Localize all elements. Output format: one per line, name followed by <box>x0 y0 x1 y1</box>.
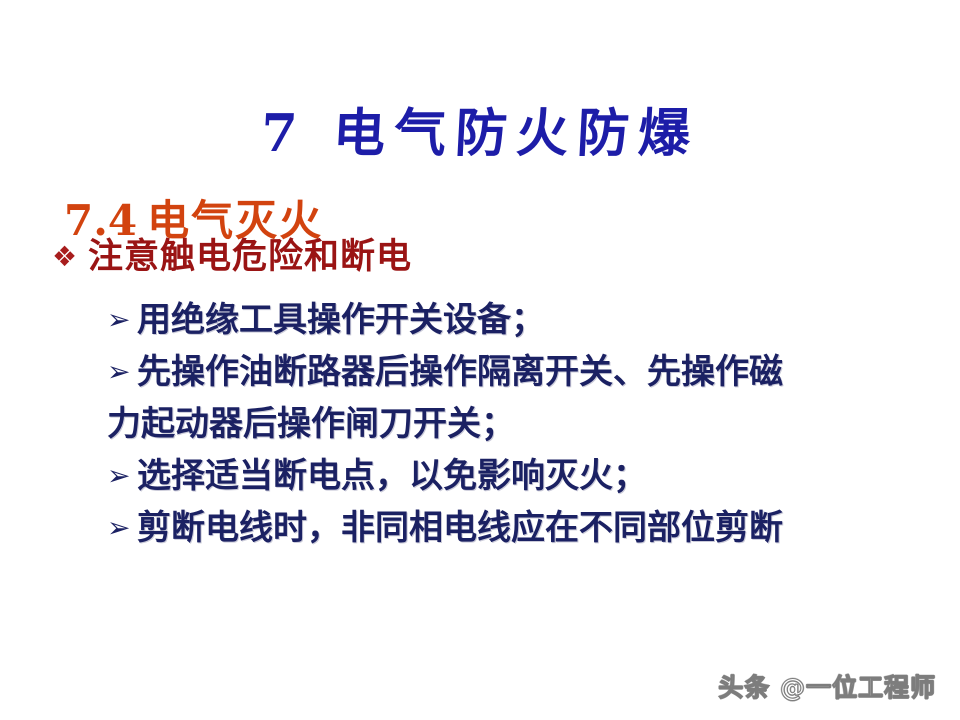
bullet-level1-heading: ❖ 注意触电危险和断电 <box>0 234 960 280</box>
list-item-line: 用绝缘工具操作开关设备； <box>137 294 946 346</box>
list-item-text: 用绝缘工具操作开关设备； <box>137 294 946 346</box>
arrow-bullet-icon: ➢ <box>107 502 137 554</box>
list-item-line: 先操作油断路器后操作隔离开关、先操作磁 <box>137 346 946 398</box>
list-item-text: 选择适当断电点，以免影响灭火； <box>137 450 946 502</box>
list-item-line: 剪断电线时，非同相电线应在不同部位剪断 <box>137 502 946 554</box>
list-item-text: 剪断电线时，非同相电线应在不同部位剪断 <box>137 502 946 554</box>
slide-content: ❖ 注意触电危险和断电 ➢ 用绝缘工具操作开关设备； ➢ 先操作油断路器后操作隔… <box>0 234 960 554</box>
slide-canvas: 7 电气防火防爆 7.4电气灭火 ❖ 注意触电危险和断电 ➢ 用绝缘工具操作开关… <box>0 0 960 720</box>
watermark: 头条 @一位工程师 <box>718 668 936 704</box>
list-item: ➢ 先操作油断路器后操作隔离开关、先操作磁 力起动器后操作闸刀开关； <box>0 346 960 450</box>
list-item: ➢ 用绝缘工具操作开关设备； <box>0 294 960 346</box>
list-item: ➢ 选择适当断电点，以免影响灭火； <box>0 450 960 502</box>
list-item-line-continuation: 力起动器后操作闸刀开关； <box>107 398 946 450</box>
diamond-bullet-icon: ❖ <box>52 234 88 280</box>
list-item-text: 先操作油断路器后操作隔离开关、先操作磁 力起动器后操作闸刀开关； <box>137 346 946 450</box>
list-item: ➢ 剪断电线时，非同相电线应在不同部位剪断 <box>0 502 960 554</box>
arrow-bullet-icon: ➢ <box>107 346 137 398</box>
page-title: 7 电气防火防爆 <box>0 107 960 162</box>
arrow-bullet-icon: ➢ <box>107 294 137 346</box>
bullet-level1-text: 注意触电危险和断电 <box>88 234 960 280</box>
list-item-line: 选择适当断电点，以免影响灭火； <box>137 450 946 502</box>
arrow-bullet-icon: ➢ <box>107 450 137 502</box>
